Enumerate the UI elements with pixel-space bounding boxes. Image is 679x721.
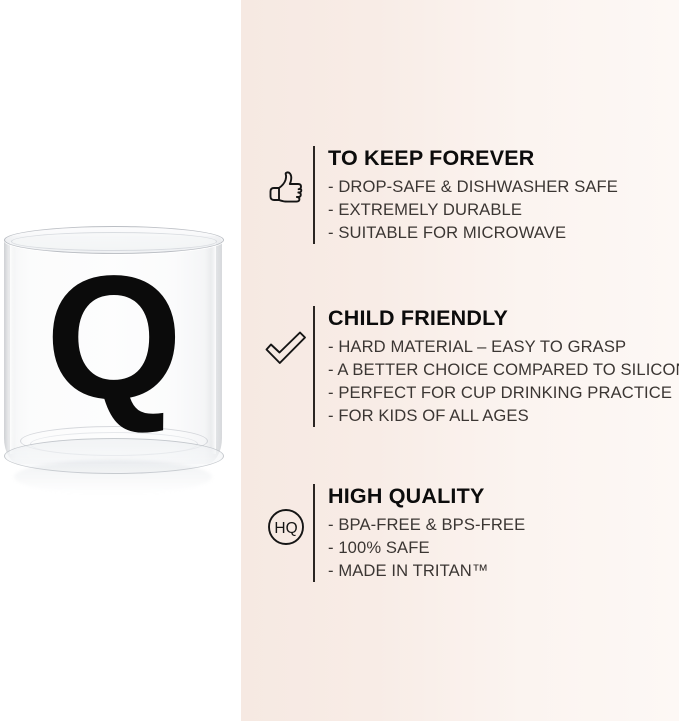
feature-bullet: - BPA-FREE & BPS-FREE xyxy=(328,513,679,536)
feature-bullet: - PERFECT FOR CUP DRINKING PRACTICE xyxy=(328,381,679,404)
feature-text-high-quality: HIGH QUALITY - BPA-FREE & BPS-FREE - 100… xyxy=(328,484,679,582)
product-image-panel: Q xyxy=(0,0,241,721)
product-cup-image: Q xyxy=(4,226,222,494)
feature-divider-rule xyxy=(313,146,315,244)
features-panel: TO KEEP FOREVER - DROP-SAFE & DISHWASHER… xyxy=(241,0,679,721)
feature-block-keep-forever: TO KEEP FOREVER - DROP-SAFE & DISHWASHER… xyxy=(259,146,679,244)
feature-bullet: - EXTREMELY DURABLE xyxy=(328,198,679,221)
feature-bullet-list: - HARD MATERIAL – EASY TO GRASP - A BETT… xyxy=(328,335,679,427)
cup-reflection xyxy=(14,460,212,494)
feature-bullet: - FOR KIDS OF ALL AGES xyxy=(328,404,679,427)
checkmark-icon xyxy=(259,306,313,366)
feature-title: HIGH QUALITY xyxy=(328,484,679,509)
cup-printed-letter: Q xyxy=(4,250,222,426)
feature-bullet: - 100% SAFE xyxy=(328,536,679,559)
hq-badge-icon: HQ xyxy=(259,484,313,546)
feature-bullet: - A BETTER CHOICE COMPARED TO SILICONE xyxy=(328,358,679,381)
feature-block-high-quality: HQ HIGH QUALITY - BPA-FREE & BPS-FREE - … xyxy=(259,484,679,582)
feature-bullet: - SUITABLE FOR MICROWAVE xyxy=(328,221,679,244)
feature-bullet: - DROP-SAFE & DISHWASHER SAFE xyxy=(328,175,679,198)
feature-bullet-list: - BPA-FREE & BPS-FREE - 100% SAFE - MADE… xyxy=(328,513,679,582)
feature-bullet: - MADE IN TRITAN™ xyxy=(328,559,679,582)
product-feature-infographic: Q TO KEEP FOREVER - DROP-SAFE & DISHWAS xyxy=(0,0,679,721)
thumbs-up-icon xyxy=(259,146,313,208)
feature-divider-rule xyxy=(313,484,315,582)
feature-bullet: - HARD MATERIAL – EASY TO GRASP xyxy=(328,335,679,358)
feature-text-keep-forever: TO KEEP FOREVER - DROP-SAFE & DISHWASHER… xyxy=(328,146,679,244)
feature-title: TO KEEP FOREVER xyxy=(328,146,679,171)
feature-block-child-friendly: CHILD FRIENDLY - HARD MATERIAL – EASY TO… xyxy=(259,306,679,427)
feature-bullet-list: - DROP-SAFE & DISHWASHER SAFE - EXTREMEL… xyxy=(328,175,679,244)
feature-title: CHILD FRIENDLY xyxy=(328,306,679,331)
svg-text:HQ: HQ xyxy=(274,520,297,537)
feature-text-child-friendly: CHILD FRIENDLY - HARD MATERIAL – EASY TO… xyxy=(328,306,679,427)
feature-divider-rule xyxy=(313,306,315,427)
